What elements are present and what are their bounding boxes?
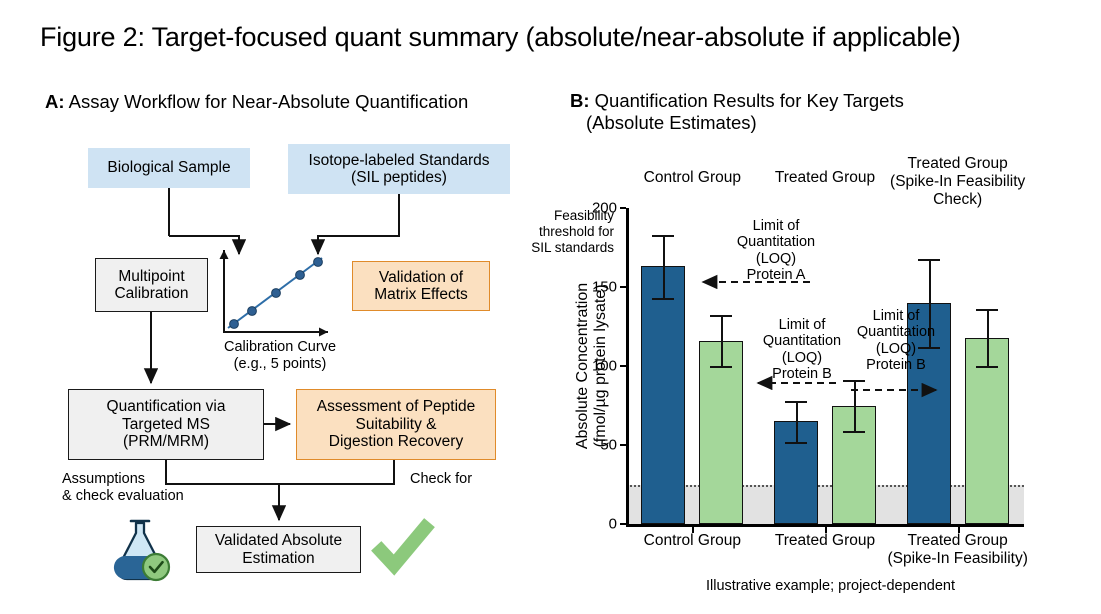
- error-bar-cap: [843, 431, 865, 433]
- note-assumptions: Assumptions & check evaluation: [62, 471, 184, 504]
- group-bottom-label-line: Treated Group: [863, 532, 1053, 550]
- check-circle-icon: [143, 554, 169, 580]
- error-bar: [721, 315, 723, 366]
- annotation-line: Limit of: [845, 308, 947, 324]
- node-quantification-line3: (PRM/MRM): [107, 433, 226, 450]
- panel-a-heading-text: Assay Workflow for Near-Absolute Quantif…: [69, 91, 469, 112]
- error-bar-cap: [918, 259, 940, 261]
- error-bar: [796, 401, 798, 442]
- y-axis-tick-label: 150: [592, 279, 617, 296]
- error-bar-cap: [652, 235, 674, 237]
- y-axis-tick-label: 100: [592, 358, 617, 375]
- y-axis-tick-mark: [620, 286, 626, 288]
- bar-protein-b[interactable]: [699, 341, 743, 524]
- annotation-line: (LOQ): [724, 251, 828, 267]
- error-bar: [663, 235, 665, 298]
- node-multipoint-calibration[interactable]: Multipoint Calibration: [95, 258, 208, 312]
- y-axis-tick-label: 0: [609, 516, 617, 533]
- annotation-line: Quantitation: [724, 234, 828, 250]
- error-bar-cap: [652, 298, 674, 300]
- group-bottom-label: Treated Group(Spike-In Feasibility): [863, 532, 1053, 568]
- panel-a-workflow: A: Assay Workflow for Near-Absolute Quan…: [0, 0, 560, 614]
- node-isotope-standards-line1: Isotope-labeled Standards: [309, 152, 490, 169]
- panel-b-heading: B: Quantification Results for Key Target…: [570, 90, 904, 133]
- green-check-icon: [381, 528, 425, 565]
- calibration-caption-line2: (e.g., 5 points): [196, 356, 364, 373]
- annotation-line: Protein A: [724, 267, 828, 283]
- feasibility-note-line2: threshold for: [531, 224, 614, 240]
- annotation-line: Protein B: [845, 357, 947, 373]
- error-bar-cap: [785, 401, 807, 403]
- annotation-line: Quantitation: [845, 324, 947, 340]
- note-assumptions-line1: Assumptions: [62, 471, 184, 488]
- panel-b-results: B: Quantification Results for Key Target…: [560, 0, 1101, 614]
- y-axis-label-line1: Absolute Concentration: [574, 216, 592, 516]
- annotation-line: Protein B: [756, 366, 848, 382]
- flask-icon: [114, 521, 169, 580]
- node-validation-line1: Validation of: [374, 269, 468, 286]
- node-final-line2: Estimation: [215, 550, 342, 567]
- error-bar-cap: [710, 366, 732, 368]
- annotation-line: Limit of: [756, 317, 848, 333]
- node-isotope-standards[interactable]: Isotope-labeled Standards (SIL peptides): [288, 144, 510, 194]
- error-bar-cap: [976, 366, 998, 368]
- group-top-label-line: Treated Group: [868, 155, 1048, 173]
- annotation-line: (LOQ): [845, 341, 947, 357]
- y-axis-tick-mark: [620, 207, 626, 209]
- figure-footer: Illustrative example; project-dependent: [560, 578, 1101, 594]
- annotation-line: Quantitation: [756, 333, 848, 349]
- y-axis-tick-mark: [620, 444, 626, 446]
- group-top-label: Treated Group(Spike-In FeasibilityCheck): [868, 155, 1048, 208]
- y-axis-tick-mark: [620, 365, 626, 367]
- node-validated-absolute-estimation[interactable]: Validated Absolute Estimation: [196, 526, 361, 573]
- node-quantification-line2: Targeted MS: [107, 416, 226, 433]
- y-axis-tick-mark: [620, 523, 626, 525]
- annotation-loq-protein-a-control: Limit ofQuantitation(LOQ)Protein A: [724, 218, 828, 284]
- node-assessment-peptide-suitability[interactable]: Assessment of Peptide Suitability & Dige…: [296, 389, 496, 460]
- note-assumptions-line2: & check evaluation: [62, 488, 184, 505]
- node-assessment-line3: Digestion Recovery: [317, 433, 476, 450]
- node-multipoint-calibration-line2: Calibration: [114, 285, 188, 302]
- annotation-loq-protein-b-spikein: Limit ofQuantitation(LOQ)Protein B: [845, 308, 947, 374]
- error-bar-cap: [710, 315, 732, 317]
- group-bottom-label-line: (Spike-In Feasibility): [863, 550, 1053, 568]
- annotation-line: (LOQ): [756, 350, 848, 366]
- note-check-for: Check for: [410, 471, 472, 488]
- node-assessment-line1: Assessment of Peptide: [317, 398, 476, 415]
- node-assessment-line2: Suitability &: [317, 416, 476, 433]
- node-quantification-targeted-ms[interactable]: Quantification via Targeted MS (PRM/MRM): [68, 389, 264, 460]
- error-bar: [987, 309, 989, 366]
- panel-b-heading-line2: (Absolute Estimates): [570, 112, 904, 134]
- feasibility-note-line3: SIL standards: [531, 240, 614, 256]
- group-top-label-line: (Spike-In Feasibility: [868, 173, 1048, 191]
- error-bar-cap: [785, 442, 807, 444]
- calibration-curve-icon: [220, 250, 329, 337]
- node-isotope-standards-line2: (SIL peptides): [309, 169, 490, 186]
- annotation-line: Limit of: [724, 218, 828, 234]
- node-multipoint-calibration-line1: Multipoint: [114, 268, 188, 285]
- node-validation-matrix-effects[interactable]: Validation of Matrix Effects: [352, 261, 490, 311]
- group-top-label-line: Check): [868, 191, 1048, 209]
- y-axis-tick-label: 50: [600, 437, 617, 454]
- panel-a-heading: A: Assay Workflow for Near-Absolute Quan…: [45, 91, 468, 113]
- panel-b-heading-line1: Quantification Results for Key Targets: [595, 90, 904, 111]
- y-axis: [626, 208, 629, 524]
- panel-b-label: B:: [570, 90, 590, 111]
- node-quantification-line1: Quantification via: [107, 398, 226, 415]
- node-biological-sample-label: Biological Sample: [107, 159, 230, 176]
- annotation-loq-protein-b-control: Limit ofQuantitation(LOQ)Protein B: [756, 317, 848, 383]
- error-bar-cap: [976, 309, 998, 311]
- node-validation-line2: Matrix Effects: [374, 286, 468, 303]
- node-biological-sample[interactable]: Biological Sample: [88, 148, 250, 188]
- calibration-caption-line1: Calibration Curve: [196, 339, 364, 356]
- y-axis-tick-label: 200: [592, 200, 617, 217]
- error-bar: [854, 380, 856, 431]
- node-final-line1: Validated Absolute: [215, 532, 342, 549]
- panel-a-label: A:: [45, 91, 65, 112]
- calibration-curve-caption: Calibration Curve (e.g., 5 points): [196, 339, 364, 372]
- bar-protein-a[interactable]: [641, 266, 685, 524]
